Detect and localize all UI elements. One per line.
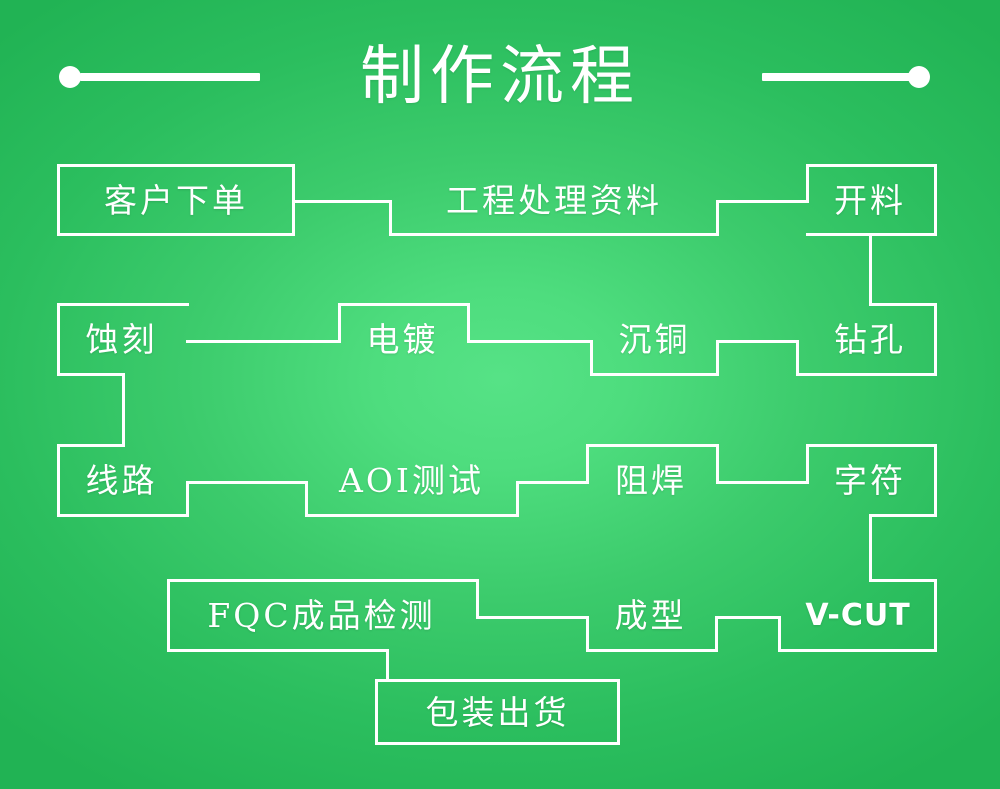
flow-node-forming[interactable]: 成型 (586, 579, 715, 652)
edge-connector (516, 481, 589, 484)
flow-node-etching[interactable]: 蚀刻 (57, 303, 186, 376)
flow-node-drilling[interactable]: 钻孔 (806, 303, 934, 376)
edge-connector (467, 340, 593, 343)
flow-node-customer-order[interactable]: 客户下单 (57, 164, 295, 236)
edge-connector (796, 340, 799, 376)
flow-node-aoi-test[interactable]: AOI测试 (305, 444, 518, 517)
edge-connector (778, 616, 781, 652)
node-border-top (719, 200, 809, 203)
flow-node-circuit[interactable]: 线路 (57, 444, 186, 517)
flow-node-engineering-data[interactable]: 工程处理资料 (389, 164, 719, 236)
node-border-right (934, 444, 937, 517)
edge-connector (386, 649, 389, 682)
edge-connector (122, 373, 125, 447)
flow-node-silkscreen[interactable]: 字符 (806, 444, 934, 517)
edge-connector (476, 579, 479, 619)
edge-connector (186, 340, 341, 343)
flowchart-poster: 制作流程 客户下单 工程处理资料 开料 钻孔 (0, 0, 1000, 789)
edge-connector (716, 340, 799, 343)
edge-connector (716, 481, 808, 484)
node-border-right (934, 164, 937, 236)
edge-connector (186, 481, 308, 484)
flow-node-fqc-inspection[interactable]: FQC成品检测 (167, 579, 476, 652)
node-border-right (934, 579, 937, 652)
edge-connector (467, 303, 470, 343)
flow-node-electroplating[interactable]: 电镀 (338, 303, 467, 376)
flow-node-v-cut[interactable]: V-CUT (782, 579, 934, 652)
edge-connector (516, 481, 519, 517)
edge-connector (869, 514, 872, 582)
edge-connector (869, 233, 872, 303)
node-border-right (934, 303, 937, 376)
flow-node-cutting[interactable]: 开料 (806, 164, 934, 236)
edge-connector (715, 616, 781, 619)
node-border-right (716, 444, 719, 484)
edge-connector (476, 616, 589, 619)
flow-node-solder-mask[interactable]: 阻焊 (586, 444, 716, 517)
flow-node-copper-deposition[interactable]: 沉铜 (590, 303, 719, 376)
edge-connector (292, 200, 392, 203)
edge-connector (715, 616, 718, 652)
flow-node-packaging-shipping[interactable]: 包装出货 (375, 679, 620, 745)
process-flow-diagram: 客户下单 工程处理资料 开料 钻孔 沉铜 (0, 0, 1000, 789)
edge-connector (186, 481, 189, 517)
